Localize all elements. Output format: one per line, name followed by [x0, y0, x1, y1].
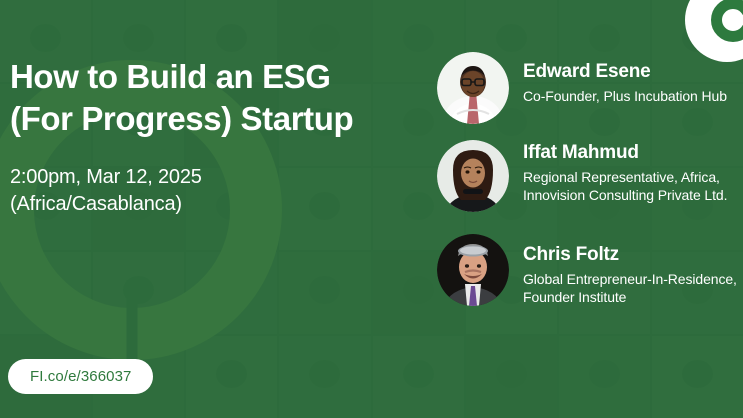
- speaker-name: Edward Esene: [523, 61, 727, 83]
- speaker-text: Edward Esene Co-Founder, Plus Incubation…: [523, 52, 727, 105]
- event-timezone: (Africa/Casablanca): [10, 191, 420, 218]
- logo-glyph: [711, 0, 743, 42]
- speaker-name: Iffat Mahmud: [523, 142, 737, 164]
- speaker-item: Chris Foltz Global Entrepreneur-In-Resid…: [437, 234, 737, 307]
- event-url-badge[interactable]: FI.co/e/366037: [8, 359, 153, 394]
- speaker-name: Chris Foltz: [523, 244, 737, 266]
- speaker-item: Iffat Mahmud Regional Representative, Af…: [437, 140, 737, 212]
- event-title-line-1: How to Build an ESG: [10, 56, 420, 98]
- avatar: [437, 234, 509, 306]
- avatar: [437, 140, 509, 212]
- speaker-role: Global Entrepreneur-In-Residence, Founde…: [523, 270, 737, 307]
- event-time: 2:00pm, Mar 12, 2025: [10, 164, 420, 191]
- event-title-line-2: (For Progress) Startup: [10, 98, 420, 140]
- event-datetime: 2:00pm, Mar 12, 2025 (Africa/Casablanca): [10, 164, 420, 218]
- speaker-text: Iffat Mahmud Regional Representative, Af…: [523, 140, 737, 205]
- page-title: How to Build an ESG (For Progress) Start…: [10, 56, 420, 140]
- speaker-role: Regional Representative, Africa, Innovis…: [523, 168, 737, 205]
- event-info: How to Build an ESG (For Progress) Start…: [10, 56, 420, 218]
- speaker-role: Co-Founder, Plus Incubation Hub: [523, 87, 727, 106]
- speaker-item: Edward Esene Co-Founder, Plus Incubation…: [437, 52, 737, 124]
- avatar: [437, 52, 509, 124]
- speaker-text: Chris Foltz Global Entrepreneur-In-Resid…: [523, 234, 737, 307]
- speaker-list: Edward Esene Co-Founder, Plus Incubation…: [437, 52, 737, 307]
